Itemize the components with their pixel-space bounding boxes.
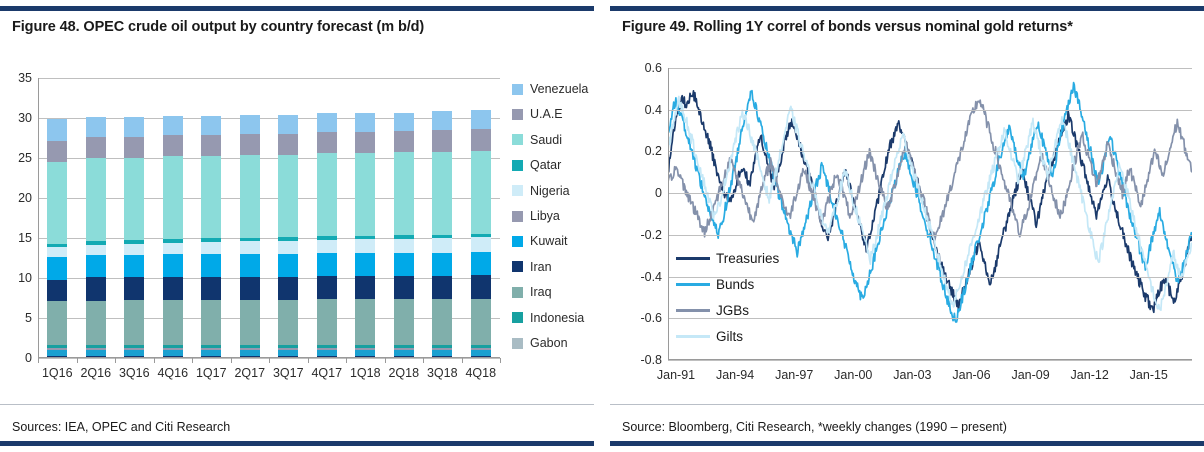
bar-segment xyxy=(47,247,67,257)
gridline xyxy=(38,78,500,79)
x-axis-tick-label: 2Q16 xyxy=(80,366,111,380)
gridline xyxy=(38,278,500,279)
gridline xyxy=(38,118,500,119)
x-axis-tick-label: Jan-97 xyxy=(775,368,813,382)
y-axis-tick-label: 30 xyxy=(2,111,32,125)
bar-segment xyxy=(278,134,298,155)
bar-segment xyxy=(278,115,298,134)
y-axis-tick-label: 0.2 xyxy=(628,144,662,158)
bar-segment xyxy=(47,244,67,248)
y-axis-tick-label: -0.4 xyxy=(628,270,662,284)
gridline xyxy=(38,158,500,159)
bar-segment xyxy=(201,348,221,351)
legend-item-saudi: Saudi xyxy=(512,133,562,147)
legend-label: Saudi xyxy=(530,133,562,147)
bar-segment xyxy=(124,255,144,277)
bar-segment xyxy=(278,348,298,351)
bar-segment xyxy=(355,239,375,253)
legend-line-swatch xyxy=(676,309,710,312)
legend-label: Libya xyxy=(530,209,560,223)
x-axis-tick-label: 3Q16 xyxy=(119,366,150,380)
x-axis-tickmark xyxy=(346,358,347,363)
bar-segment xyxy=(394,276,414,300)
bar-segment xyxy=(86,158,106,241)
legend-label: Iraq xyxy=(530,285,552,299)
bar-segment xyxy=(201,135,221,156)
bar-segment xyxy=(432,130,452,151)
x-axis-tick-label: 2Q18 xyxy=(388,366,419,380)
y-axis-tick-label: -0.8 xyxy=(628,353,662,367)
x-axis-tick-label: 1Q16 xyxy=(42,366,73,380)
x-axis-tickmark xyxy=(308,358,309,363)
table-row xyxy=(471,78,491,358)
bar-segment xyxy=(355,153,375,236)
x-axis-tickmark xyxy=(154,358,155,363)
legend-label: Bunds xyxy=(716,277,754,292)
table-row xyxy=(432,78,452,358)
bar-segment xyxy=(432,111,452,130)
table-row xyxy=(124,78,144,358)
legend-swatch xyxy=(512,134,523,145)
bar-segment xyxy=(471,275,491,299)
bar-segment xyxy=(240,254,260,277)
y-axis-line xyxy=(668,68,669,360)
bar-segment xyxy=(432,348,452,351)
legend-swatch xyxy=(512,236,523,247)
bar-segment xyxy=(278,277,298,300)
figure-49-source: Source: Bloomberg, Citi Research, *weekl… xyxy=(622,420,1196,434)
legend-swatch xyxy=(512,185,523,196)
x-axis-tick-label: Jan-09 xyxy=(1011,368,1049,382)
table-row xyxy=(355,78,375,358)
bar-segment xyxy=(394,253,414,276)
bar-segment xyxy=(240,155,260,238)
opec-legend: VenezuelaU.A.ESaudiQatarNigeriaLibyaKuwa… xyxy=(512,82,594,362)
x-axis-tickmark xyxy=(269,358,270,363)
figure-48-panel: Figure 48. OPEC crude oil output by coun… xyxy=(0,0,594,452)
bar-segment xyxy=(163,239,183,243)
bar-segment xyxy=(278,254,298,277)
legend-item-kuwait: Kuwait xyxy=(512,234,568,248)
y-axis-tick-label: 0.4 xyxy=(628,103,662,117)
table-row xyxy=(47,78,67,358)
bar-segment xyxy=(432,235,452,239)
legend-label: Kuwait xyxy=(530,234,568,248)
x-axis-tick-label: Jan-12 xyxy=(1071,368,1109,382)
bar-segment xyxy=(86,301,106,345)
bar-segment xyxy=(317,153,337,236)
bar-segment xyxy=(355,345,375,348)
bar-segment xyxy=(471,348,491,351)
bar-segment xyxy=(47,350,67,356)
bar-segment xyxy=(317,348,337,351)
bar-segment xyxy=(355,113,375,131)
bar-segment xyxy=(432,253,452,276)
x-axis-tickmark xyxy=(423,358,424,363)
legend-label: Indonesia xyxy=(530,311,584,325)
y-axis-line xyxy=(38,78,39,358)
bar-segment xyxy=(278,237,298,241)
bar-segment xyxy=(355,253,375,276)
legend-item-gabon: Gabon xyxy=(512,336,568,350)
bar-segment xyxy=(432,350,452,356)
figure-48-title: Figure 48. OPEC crude oil output by coun… xyxy=(12,19,586,35)
x-axis-tick-label: 3Q17 xyxy=(273,366,304,380)
bar-segment xyxy=(278,300,298,345)
x-axis-tick-label: 3Q18 xyxy=(427,366,458,380)
bar-segment xyxy=(471,129,491,150)
x-axis-tickmark xyxy=(115,358,116,363)
y-axis-tick-label: 0 xyxy=(2,351,32,365)
legend-item-libya: Libya xyxy=(512,209,560,223)
panel-thin-rule xyxy=(610,404,1204,405)
x-axis-tick-label: Jan-03 xyxy=(893,368,931,382)
bar-segment xyxy=(124,244,144,255)
x-axis-line xyxy=(668,359,1192,360)
y-axis-tick-label: 5 xyxy=(2,311,32,325)
legend-line-swatch xyxy=(676,257,710,260)
bar-segment xyxy=(86,137,106,158)
bar-segment xyxy=(163,116,183,135)
bar-segment xyxy=(471,252,491,275)
bar-segment xyxy=(471,110,491,129)
legend-label: JGBs xyxy=(716,303,749,318)
legend-label: Treasuries xyxy=(716,251,779,266)
bar-segment xyxy=(432,238,452,252)
x-axis-tickmark xyxy=(38,358,39,363)
bar-segment xyxy=(471,151,491,234)
gridline xyxy=(668,151,1192,152)
y-axis-tick-label: 25 xyxy=(2,151,32,165)
legend-label: U.A.E xyxy=(530,107,563,121)
correl-legend: TreasuriesBundsJGBsGilts xyxy=(676,250,836,350)
bar-segment xyxy=(47,162,67,244)
x-axis-tickmark xyxy=(462,358,463,363)
x-axis-tickmark xyxy=(77,358,78,363)
bar-segment xyxy=(317,132,337,153)
legend-item-iran: Iran xyxy=(512,260,552,274)
x-axis-tick-label: 4Q17 xyxy=(311,366,342,380)
bar-segment xyxy=(163,300,183,344)
legend-item-indonesia: Indonesia xyxy=(512,311,584,325)
bar-segment xyxy=(163,345,183,348)
bar-segment xyxy=(86,241,106,245)
bar-segment xyxy=(317,236,337,240)
legend-label: Iran xyxy=(530,260,552,274)
x-axis-tick-label: 2Q17 xyxy=(234,366,265,380)
table-row xyxy=(201,78,221,358)
panel-thin-rule xyxy=(0,404,594,405)
bar-segment xyxy=(124,345,144,348)
legend-label: Gabon xyxy=(530,336,568,350)
gridline xyxy=(668,360,1192,361)
legend-swatch xyxy=(512,338,523,349)
bar-segment xyxy=(240,345,260,348)
bar-segment xyxy=(86,277,106,300)
bar-segment xyxy=(317,253,337,276)
bar-segment xyxy=(394,299,414,344)
bar-segment xyxy=(163,156,183,239)
x-axis-tick-label: 4Q18 xyxy=(465,366,496,380)
bar-segment xyxy=(355,236,375,240)
x-axis-tick-label: Jan-00 xyxy=(834,368,872,382)
bar-segment xyxy=(86,350,106,356)
legend-item-treasuries: Treasuries xyxy=(676,250,779,266)
bar-segment xyxy=(47,257,67,279)
bar-segment xyxy=(471,234,491,238)
panel-bottom-rule xyxy=(0,441,594,446)
y-axis-tick-label: 35 xyxy=(2,71,32,85)
bar-segment xyxy=(201,238,221,242)
bar-segment xyxy=(201,254,221,277)
gridline xyxy=(668,235,1192,236)
bar-segment xyxy=(47,141,67,162)
figure-48-source: Sources: IEA, OPEC and Citi Research xyxy=(12,420,586,434)
bar-segment xyxy=(163,277,183,301)
bar-segment xyxy=(86,345,106,348)
x-axis-tickmark xyxy=(231,358,232,363)
figure-pair-page: Figure 48. OPEC crude oil output by coun… xyxy=(0,0,1204,452)
bar-segment xyxy=(432,276,452,300)
bar-segment xyxy=(432,299,452,344)
bar-segment xyxy=(317,240,337,253)
bar-segment xyxy=(163,243,183,254)
bar-segment xyxy=(201,242,221,254)
bar-segment xyxy=(86,245,106,255)
bar-segment xyxy=(240,134,260,155)
panel-top-rule xyxy=(0,6,594,11)
bar-segment xyxy=(240,300,260,345)
gridline xyxy=(668,68,1192,69)
figure-49-title: Figure 49. Rolling 1Y correl of bonds ve… xyxy=(622,19,1196,35)
y-axis-tick-label: -0.6 xyxy=(628,311,662,325)
table-row xyxy=(86,78,106,358)
bar-segment xyxy=(47,119,67,141)
bar-segment xyxy=(278,155,298,238)
legend-label: Nigeria xyxy=(530,184,570,198)
bar-segment xyxy=(86,348,106,351)
bar-segment xyxy=(355,299,375,344)
bar-segment xyxy=(124,137,144,158)
legend-label: Venezuela xyxy=(530,82,588,96)
legend-swatch xyxy=(512,312,523,323)
x-axis-tickmark xyxy=(192,358,193,363)
legend-item-gilts: Gilts xyxy=(676,328,743,344)
bar-segment xyxy=(317,276,337,300)
bar-segment xyxy=(86,255,106,277)
y-axis-tick-label: 10 xyxy=(2,271,32,285)
y-axis-tick-label: 0 xyxy=(628,186,662,200)
bar-segment xyxy=(240,348,260,351)
y-axis-tick-label: -0.2 xyxy=(628,228,662,242)
bar-segment xyxy=(201,116,221,135)
x-axis-tick-label: Jan-91 xyxy=(657,368,695,382)
panel-bottom-rule xyxy=(610,441,1204,446)
gridline xyxy=(38,198,500,199)
legend-label: Gilts xyxy=(716,329,743,344)
bar-segment xyxy=(201,277,221,300)
legend-item-u-a-e: U.A.E xyxy=(512,107,563,121)
bar-segment xyxy=(124,240,144,244)
x-axis-tick-label: 1Q18 xyxy=(350,366,381,380)
bar-segment xyxy=(47,280,67,302)
legend-line-swatch xyxy=(676,283,710,286)
y-axis-tick-label: 20 xyxy=(2,191,32,205)
x-axis-tickmark xyxy=(385,358,386,363)
figure-49-panel: Figure 49. Rolling 1Y correl of bonds ve… xyxy=(610,0,1204,452)
legend-swatch xyxy=(512,261,523,272)
gridline xyxy=(668,193,1192,194)
bar-segment xyxy=(278,350,298,356)
x-axis-tick-label: Jan-15 xyxy=(1130,368,1168,382)
bar-segment xyxy=(355,348,375,351)
bar-segment xyxy=(47,348,67,351)
legend-swatch xyxy=(512,84,523,95)
opec-output-chart xyxy=(38,78,500,358)
bar-segment xyxy=(163,254,183,277)
bar-segment xyxy=(394,131,414,152)
bar-segment xyxy=(124,277,144,300)
bar-segment xyxy=(163,350,183,356)
legend-swatch xyxy=(512,109,523,120)
bar-segment xyxy=(163,348,183,351)
x-axis-tick-label: Jan-94 xyxy=(716,368,754,382)
bar-segment xyxy=(240,350,260,356)
table-row xyxy=(240,78,260,358)
legend-item-iraq: Iraq xyxy=(512,285,552,299)
x-axis-tick-label: 1Q17 xyxy=(196,366,227,380)
legend-item-qatar: Qatar xyxy=(512,158,561,172)
bar-segment xyxy=(201,345,221,348)
x-axis-tick-label: Jan-06 xyxy=(952,368,990,382)
bar-segment xyxy=(278,241,298,254)
bar-segment xyxy=(432,345,452,348)
bar-segment xyxy=(471,299,491,345)
bar-segment xyxy=(124,350,144,356)
bar-segment xyxy=(278,345,298,348)
bar-segment xyxy=(317,350,337,356)
bar-segment xyxy=(394,152,414,235)
bar-segment xyxy=(317,299,337,344)
bar-segment xyxy=(124,158,144,240)
gridline xyxy=(38,238,500,239)
y-axis-tick-label: 0.6 xyxy=(628,61,662,75)
legend-label: Qatar xyxy=(530,158,561,172)
gridline xyxy=(38,318,500,319)
bar-segment xyxy=(47,301,67,345)
bar-segment xyxy=(201,350,221,356)
table-row xyxy=(317,78,337,358)
bar-segment xyxy=(394,348,414,351)
bar-segment xyxy=(317,113,337,131)
bar-segment xyxy=(471,345,491,348)
legend-line-swatch xyxy=(676,335,710,338)
legend-swatch xyxy=(512,287,523,298)
table-row xyxy=(278,78,298,358)
bar-segment xyxy=(47,345,67,348)
bar-segment xyxy=(124,348,144,351)
gridline xyxy=(668,110,1192,111)
legend-item-venezuela: Venezuela xyxy=(512,82,588,96)
bar-segment xyxy=(394,239,414,253)
bar-segment xyxy=(201,300,221,345)
bar-segment xyxy=(355,132,375,153)
bar-segment xyxy=(355,276,375,300)
legend-swatch xyxy=(512,160,523,171)
legend-item-jgbs: JGBs xyxy=(676,302,749,318)
bar-segment xyxy=(163,135,183,156)
table-row xyxy=(394,78,414,358)
bar-segment xyxy=(394,235,414,239)
x-axis-tick-label: 4Q16 xyxy=(157,366,188,380)
bar-segment xyxy=(240,115,260,134)
bar-segment xyxy=(317,345,337,348)
bar-segment xyxy=(240,238,260,242)
bar-segment xyxy=(394,350,414,356)
bar-segment xyxy=(124,300,144,344)
x-axis-tickmark xyxy=(500,358,501,363)
bar-segment xyxy=(394,345,414,348)
table-row xyxy=(163,78,183,358)
bar-segment xyxy=(355,350,375,356)
bar-segment xyxy=(124,117,144,137)
legend-swatch xyxy=(512,211,523,222)
bar-segment xyxy=(201,156,221,238)
bar-segment xyxy=(471,350,491,356)
legend-item-bunds: Bunds xyxy=(676,276,754,292)
y-axis-tick-label: 15 xyxy=(2,231,32,245)
bar-segment xyxy=(394,113,414,131)
bar-segment xyxy=(240,241,260,253)
legend-item-nigeria: Nigeria xyxy=(512,184,570,198)
panel-top-rule xyxy=(610,6,1204,11)
bar-segment xyxy=(86,117,106,137)
bar-segment xyxy=(432,152,452,235)
bar-segment xyxy=(471,237,491,252)
bar-segment xyxy=(240,277,260,300)
